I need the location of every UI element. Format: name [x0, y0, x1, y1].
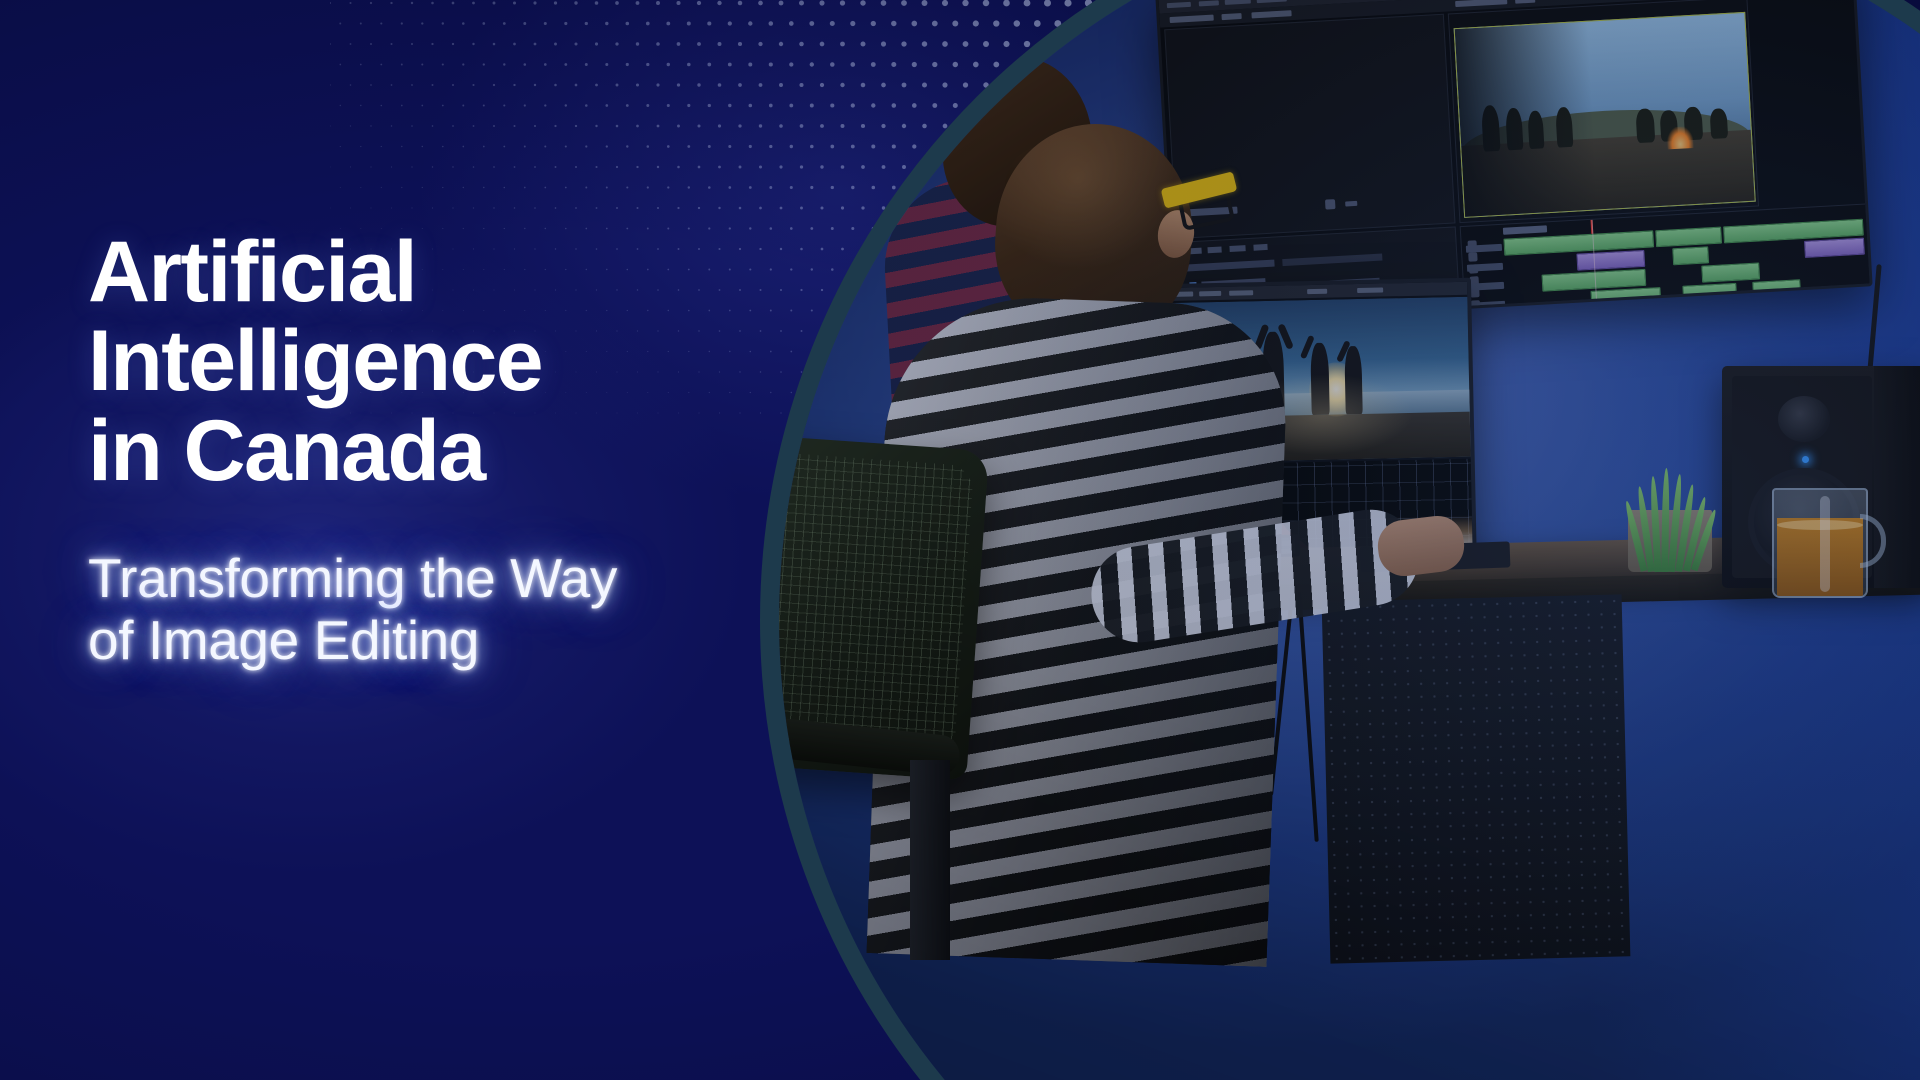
headline-line-2: Intelligence	[88, 317, 848, 406]
page-title: Artificial Intelligence in Canada	[88, 228, 848, 496]
subtitle-line-1: Transforming the Way	[88, 548, 848, 610]
ai-canada-banner: Artificial Intelligence in Canada Transf…	[0, 0, 1920, 1080]
subtitle: Transforming the Way of Image Editing	[88, 548, 848, 671]
subtitle-line-2: of Image Editing	[88, 610, 848, 672]
headline-line-3: in Canada	[88, 407, 848, 496]
headline-line-1: Artificial	[88, 228, 848, 317]
copy-block: Artificial Intelligence in Canada Transf…	[88, 228, 848, 672]
